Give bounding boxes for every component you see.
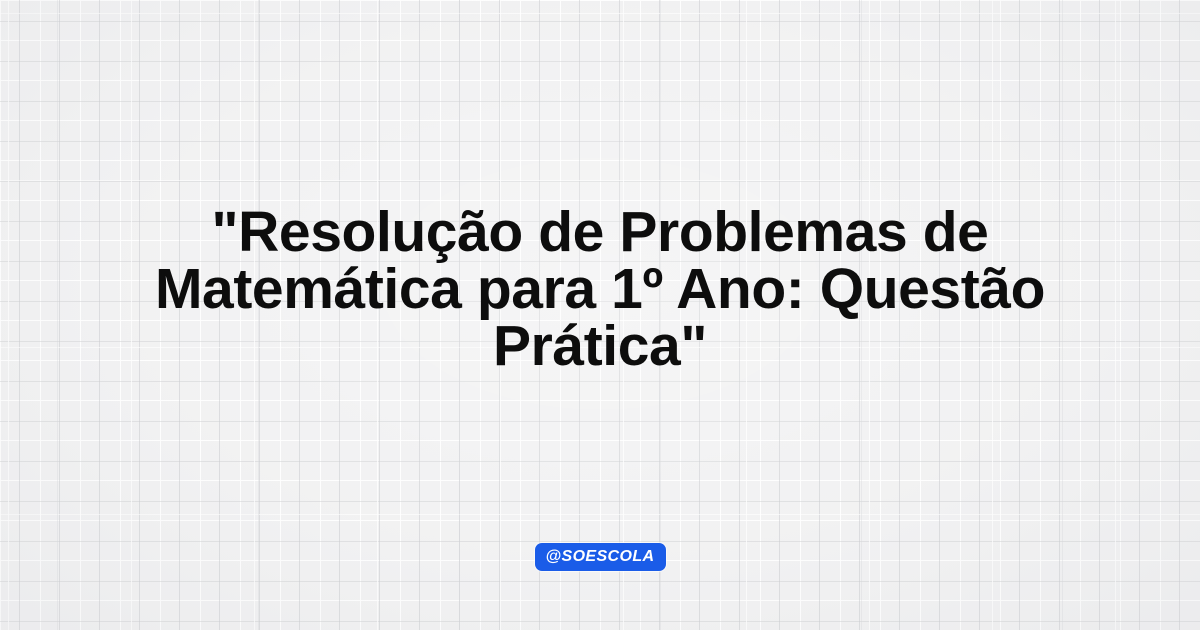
- handle-badge-container: @SOESCOLA: [0, 543, 1200, 571]
- page-title: "Resolução de Problemas de Matemática pa…: [48, 204, 1152, 375]
- share-card: "Resolução de Problemas de Matemática pa…: [0, 0, 1200, 630]
- title-block: "Resolução de Problemas de Matemática pa…: [0, 204, 1200, 375]
- brand-handle-badge[interactable]: @SOESCOLA: [535, 543, 666, 571]
